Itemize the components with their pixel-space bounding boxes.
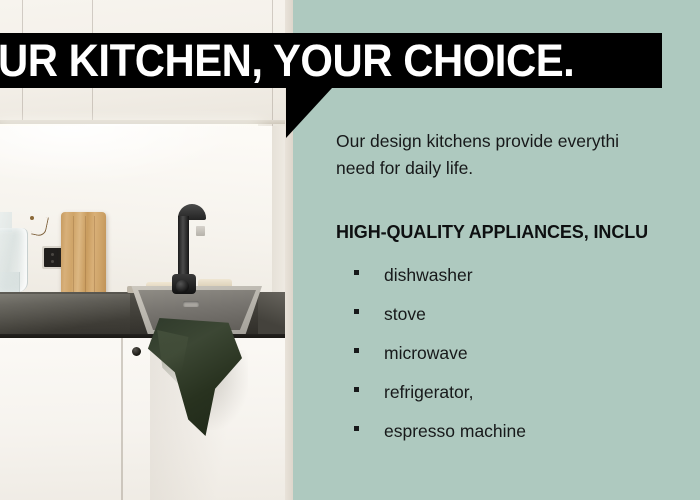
appliances-list: dishwasher stove microwave refrigerator,…	[336, 265, 700, 460]
outlet-faceplate	[44, 248, 62, 267]
list-item: refrigerator,	[336, 382, 700, 421]
list-item: espresso machine	[336, 421, 700, 460]
list-item-label: dishwasher	[384, 265, 473, 285]
faucet-aerator	[196, 226, 205, 236]
list-item-label: espresso machine	[384, 421, 526, 441]
square-bullet-icon	[354, 270, 359, 275]
square-bullet-icon	[354, 426, 359, 431]
lower-cabinet-seam	[121, 338, 123, 500]
outlet-socket-hole	[51, 260, 54, 263]
cutting-board-hole	[30, 216, 34, 220]
list-item: microwave	[336, 343, 700, 382]
appliances-subheading: HIGH-QUALITY APPLIANCES, INCLU	[336, 222, 700, 243]
list-item-label: stove	[384, 304, 426, 324]
faucet-column	[178, 216, 189, 282]
countertop-reflection	[0, 294, 130, 336]
list-item-label: microwave	[384, 343, 468, 363]
panel-text-block: Our design kitchens provide everythi nee…	[336, 128, 700, 460]
faucet-handle	[176, 280, 189, 293]
sink-drain	[183, 301, 199, 307]
slide-canvas: UR KITCHEN, YOUR CHOICE. Our design kitc…	[0, 0, 700, 500]
headline-banner: UR KITCHEN, YOUR CHOICE.	[0, 33, 662, 88]
list-item: stove	[336, 304, 700, 343]
page-title: UR KITCHEN, YOUR CHOICE.	[0, 38, 574, 84]
outlet-socket-hole	[51, 253, 54, 256]
cabinet-knob	[132, 347, 141, 356]
speech-bubble-tail-icon	[286, 88, 332, 138]
list-item: dishwasher	[336, 265, 700, 304]
square-bullet-icon	[354, 348, 359, 353]
intro-paragraph-line-1: Our design kitchens provide everythi	[336, 128, 700, 155]
intro-paragraph-line-2: need for daily life.	[336, 155, 700, 182]
wall-light-glow	[0, 126, 240, 186]
square-bullet-icon	[354, 387, 359, 392]
square-bullet-icon	[354, 309, 359, 314]
list-item-label: refrigerator,	[384, 382, 473, 402]
